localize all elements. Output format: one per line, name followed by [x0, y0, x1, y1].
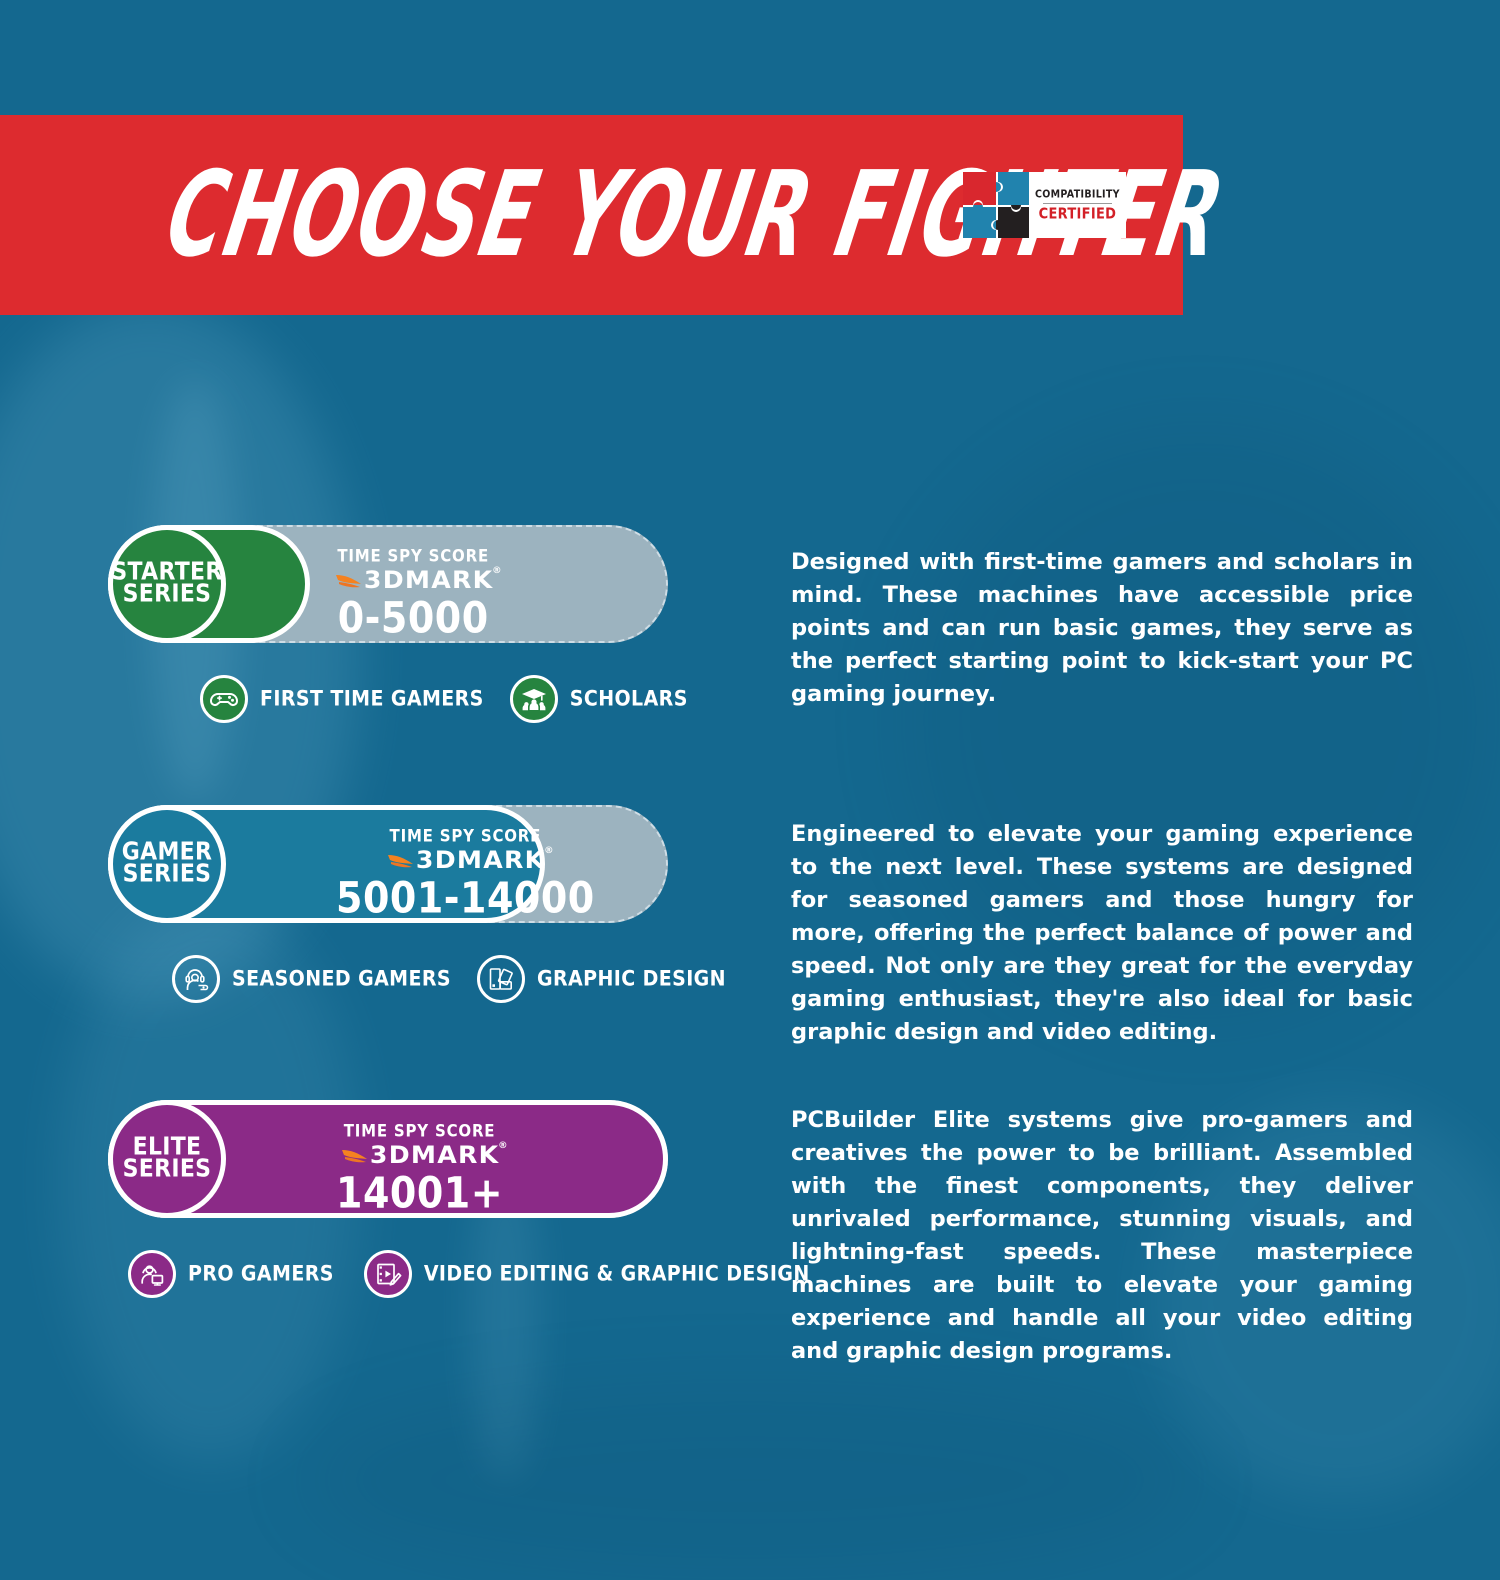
tag-list-starter: FIRST TIME GAMERS SCHOLARS — [200, 675, 688, 723]
puzzle-icon — [963, 172, 1029, 238]
score-value: 5001-14000 — [336, 877, 595, 920]
3dmark-logo: 3DMARK® — [342, 1143, 496, 1167]
3dmark-swoosh-icon — [336, 571, 362, 589]
score-value: 14001+ — [336, 1172, 503, 1215]
graduation-cap-icon — [510, 675, 558, 723]
badge-line-2: CERTIFIED — [1039, 205, 1117, 222]
tag-pro-gamers[interactable]: PRO GAMERS — [128, 1250, 334, 1298]
tag-video-editing-graphic-design[interactable]: VIDEO EDITING & GRAPHIC DESIGN — [364, 1250, 810, 1298]
3dmark-logo: 3DMARK® — [336, 568, 490, 592]
tag-label: VIDEO EDITING & GRAPHIC DESIGN — [424, 1262, 810, 1287]
tag-scholars[interactable]: SCHOLARS — [510, 675, 688, 723]
score-block: TIME SPY SCORE 3DMARK® 0-5000 — [336, 549, 490, 637]
tag-graphic-design[interactable]: GRAPHIC DESIGN — [477, 955, 726, 1003]
film-pencil-icon — [364, 1250, 412, 1298]
badge-line-1: COMPATIBILITY — [1035, 188, 1120, 201]
badge-divider — [1043, 203, 1113, 204]
3dmark-swoosh-icon — [388, 851, 414, 869]
description-gamer: Engineered to elevate your gaming experi… — [791, 818, 1413, 1049]
score-block: TIME SPY SCORE 3DMARK® 5001-14000 — [336, 829, 595, 917]
3dmark-swoosh-icon — [342, 1146, 368, 1164]
score-label: TIME SPY SCORE — [337, 548, 489, 565]
tag-label: PRO GAMERS — [188, 1262, 334, 1287]
series-badge-gamer[interactable]: GAMER SERIES — [108, 805, 226, 923]
tag-list-elite: PRO GAMERS VIDEO EDITING & GRAPHIC DESIG… — [128, 1250, 810, 1298]
score-label: TIME SPY SCORE — [390, 828, 542, 845]
3dmark-logo: 3DMARK® — [388, 848, 542, 872]
score-bar-elite: ELITE SERIES TIME SPY SCORE 3DMARK® 1400… — [108, 1100, 668, 1218]
description-starter: Designed with first-time gamers and scho… — [791, 546, 1413, 711]
score-label: TIME SPY SCORE — [344, 1123, 496, 1140]
tag-label: SCHOLARS — [570, 687, 688, 712]
compatibility-certified-badge: COMPATIBILITY CERTIFIED — [963, 172, 1111, 238]
tag-first-time-gamers[interactable]: FIRST TIME GAMERS — [200, 675, 484, 723]
series-name-line2: SERIES — [123, 1158, 212, 1183]
series-badge-elite[interactable]: ELITE SERIES — [108, 1100, 226, 1218]
score-bar-gamer: GAMER SERIES TIME SPY SCORE 3DMARK® 5001… — [108, 805, 668, 923]
series-name-line2: SERIES — [123, 583, 212, 608]
color-swatch-icon — [477, 955, 525, 1003]
score-block: TIME SPY SCORE 3DMARK® 14001+ — [336, 1124, 503, 1212]
3dmark-wordmark: 3DMARK® — [416, 848, 546, 872]
tag-list-gamer: SEASONED GAMERS GRAPHIC DESIGN — [172, 955, 726, 1003]
description-elite: PCBuilder Elite systems give pro-gamers … — [791, 1104, 1413, 1369]
tag-seasoned-gamers[interactable]: SEASONED GAMERS — [172, 955, 451, 1003]
headset-gamer-icon — [172, 955, 220, 1003]
score-bar-starter: STARTER SERIES TIME SPY SCORE 3DMARK® 0-… — [108, 525, 668, 643]
gamepad-icon — [200, 675, 248, 723]
score-value: 0-5000 — [338, 597, 489, 640]
3dmark-wordmark: 3DMARK® — [364, 568, 494, 592]
series-name-line2: SERIES — [123, 863, 212, 888]
tag-label: SEASONED GAMERS — [232, 967, 451, 992]
3dmark-wordmark: 3DMARK® — [370, 1143, 500, 1167]
tag-label: FIRST TIME GAMERS — [260, 687, 484, 712]
pro-gamer-monitor-icon — [128, 1250, 176, 1298]
tag-label: GRAPHIC DESIGN — [537, 967, 726, 992]
series-badge-starter[interactable]: STARTER SERIES — [108, 525, 226, 643]
